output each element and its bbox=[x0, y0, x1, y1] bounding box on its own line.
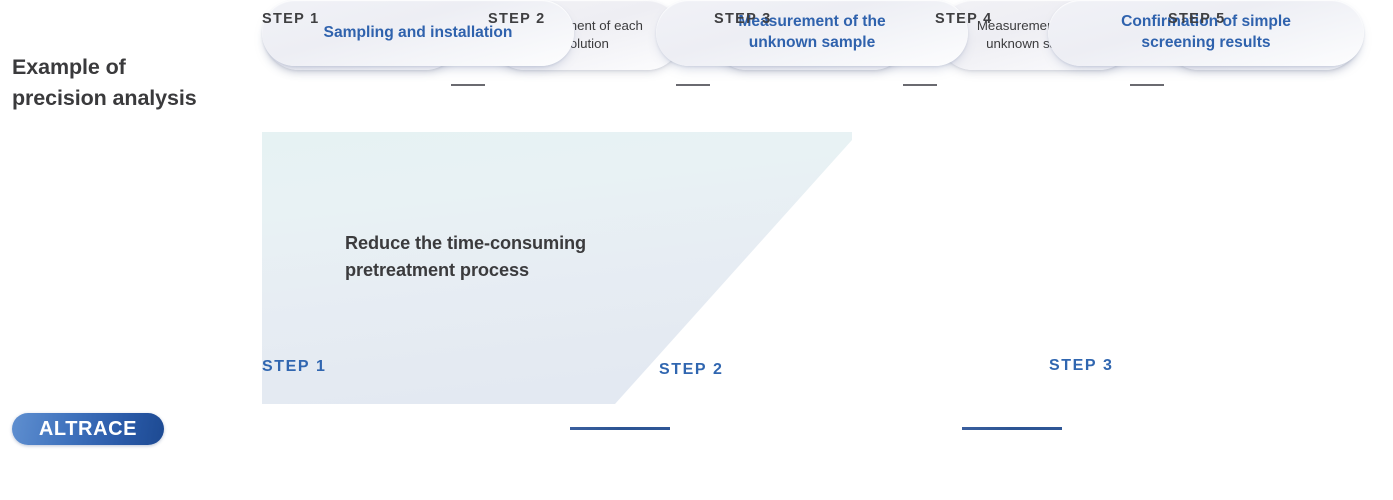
bottom-step-box-2-line-2: unknown sample bbox=[749, 34, 876, 51]
page-title: Example of precision analysis bbox=[12, 52, 252, 113]
bottom-connector-1-2 bbox=[570, 427, 670, 430]
bottom-connector-2-3 bbox=[962, 427, 1062, 430]
bottom-step-box-1-text: Sampling and installation bbox=[324, 23, 513, 44]
funnel-caption-line-2: pretreatment process bbox=[345, 257, 675, 284]
top-step-label-3: STEP 3 bbox=[714, 11, 772, 27]
bottom-step-box-1-line-1: Sampling and installation bbox=[324, 24, 513, 41]
funnel-caption-line-1: Reduce the time-consuming bbox=[345, 230, 675, 257]
top-step-label-1: STEP 1 bbox=[262, 11, 320, 27]
top-step-label-5: STEP 5 bbox=[1168, 11, 1226, 27]
top-connector-1-2 bbox=[451, 84, 485, 86]
bottom-step-label-3: STEP 3 bbox=[1049, 357, 1113, 375]
precision-analysis-diagram: Example of precision analysis ALTRACE Re… bbox=[0, 0, 1393, 500]
page-title-line-1: Example of bbox=[12, 52, 252, 83]
bottom-step-box-2: Measurement of the unknown sample bbox=[656, 0, 968, 66]
funnel-caption: Reduce the time-consuming pretreatment p… bbox=[345, 230, 675, 284]
top-step-label-2: STEP 2 bbox=[488, 11, 546, 27]
bottom-step-label-1: STEP 1 bbox=[262, 358, 326, 376]
bottom-step-label-2: STEP 2 bbox=[659, 361, 723, 379]
top-connector-4-5 bbox=[1130, 84, 1164, 86]
page-title-line-2: precision analysis bbox=[12, 83, 252, 114]
bottom-step-box-3: Confirmation of simple screening results bbox=[1048, 0, 1364, 66]
top-connector-2-3 bbox=[676, 84, 710, 86]
bottom-step-box-3-line-2: screening results bbox=[1141, 34, 1270, 51]
bottom-step-box-1: Sampling and installation bbox=[262, 0, 574, 66]
altrace-brand-badge: ALTRACE bbox=[12, 413, 164, 445]
top-step-label-4: STEP 4 bbox=[935, 11, 993, 27]
top-connector-3-4 bbox=[903, 84, 937, 86]
altrace-badge-label: ALTRACE bbox=[39, 419, 137, 439]
